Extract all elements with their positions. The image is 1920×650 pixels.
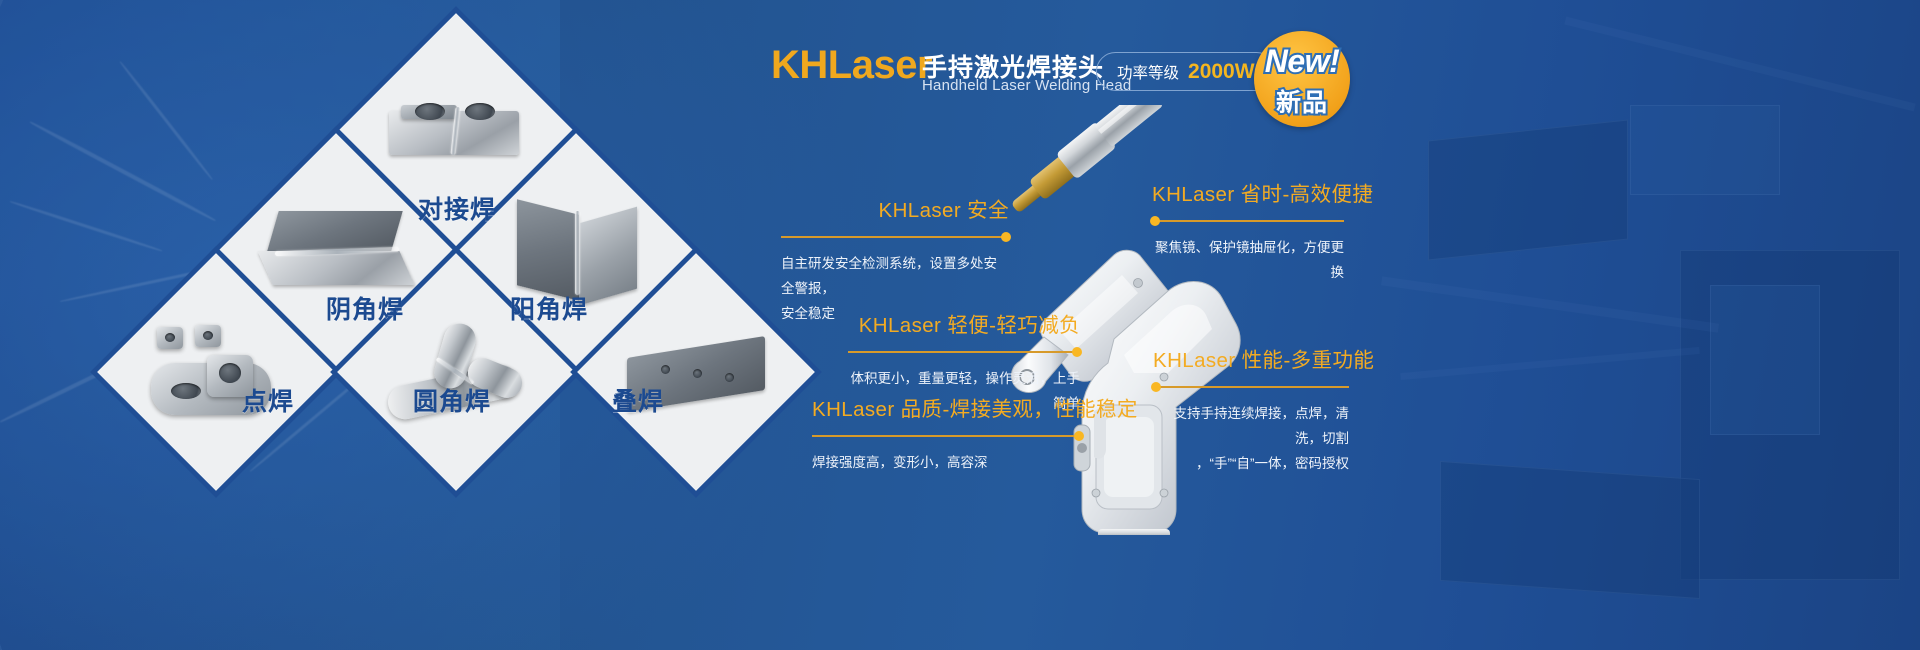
feature-performance-title: KHLaser 性能-多重功能 [1153, 343, 1349, 373]
weld-sample-label-inside-corner-weld: 阴角焊 [326, 290, 404, 326]
feature-time-saving-title: KHLaser 省时-高效便捷 [1152, 177, 1344, 207]
feature-safety-title: KHLaser 安全 [781, 193, 1009, 223]
weld-sample-label-butt-weld: 对接焊 [418, 190, 496, 226]
rule-line [1152, 220, 1344, 222]
rule-line [848, 351, 1080, 353]
rule-dot [1151, 382, 1161, 392]
feature-time-saving-desc: 聚焦镜、保护镜抽屉化，方便更换 [1152, 236, 1344, 286]
feature-performance: KHLaser 性能-多重功能 支持手持连续焊接，点焊，清洗，切割 ，“手”“自… [1153, 343, 1349, 477]
feature-time-saving: KHLaser 省时-高效便捷 聚焦镜、保护镜抽屉化，方便更换 [1152, 177, 1344, 286]
feature-time-saving-rule [1152, 215, 1344, 227]
feature-safety-rule [781, 231, 1009, 243]
feature-quality-rule [812, 430, 1082, 442]
rule-dot [1150, 216, 1160, 226]
rule-dot [1001, 232, 1011, 242]
rule-line [812, 435, 1082, 437]
rule-line [1153, 386, 1349, 388]
weld-sample-label-lap-weld: 叠焊 [612, 382, 664, 418]
feature-performance-rule [1153, 381, 1349, 393]
promo-banner: 对接焊 阴角焊 阳角焊 点焊 圆角焊 叠焊 KHLaser 手持激光焊接头 Ha… [0, 0, 1920, 650]
new-badge-text-en: New! [1245, 43, 1359, 80]
feature-quality: KHLaser 品质-焊接美观，性能稳定 焊接强度高，变形小，高容深 [812, 392, 1082, 476]
feature-lightweight-title: KHLaser 轻便-轻巧减负 [848, 308, 1080, 338]
feature-lightweight-rule [848, 346, 1080, 358]
rule-line [781, 236, 1009, 238]
weld-sample-label-outside-corner-weld: 阳角焊 [510, 290, 588, 326]
factory-machine-background [1380, 0, 1920, 650]
weld-sample-label-spot-weld: 点焊 [242, 382, 294, 418]
weld-sample-label-fillet-weld: 圆角焊 [413, 382, 491, 418]
feature-safety: KHLaser 安全 自主研发安全检测系统，设置多处安全警报， 安全稳定 [781, 193, 1009, 327]
weld-sample-grid: 对接焊 阴角焊 阳角焊 点焊 圆角焊 叠焊 [168, 38, 748, 538]
brand-logo: KHLaser [771, 45, 932, 85]
feature-quality-title: KHLaser 品质-焊接美观，性能稳定 [812, 392, 1082, 422]
feature-performance-desc: 支持手持连续焊接，点焊，清洗，切割 ，“手”“自”一体，密码授权 [1153, 402, 1349, 477]
power-rating-label: 功率等级 [1117, 61, 1179, 83]
feature-quality-desc: 焊接强度高，变形小，高容深 [812, 451, 1082, 476]
rule-dot [1072, 347, 1082, 357]
rule-dot [1074, 431, 1084, 441]
